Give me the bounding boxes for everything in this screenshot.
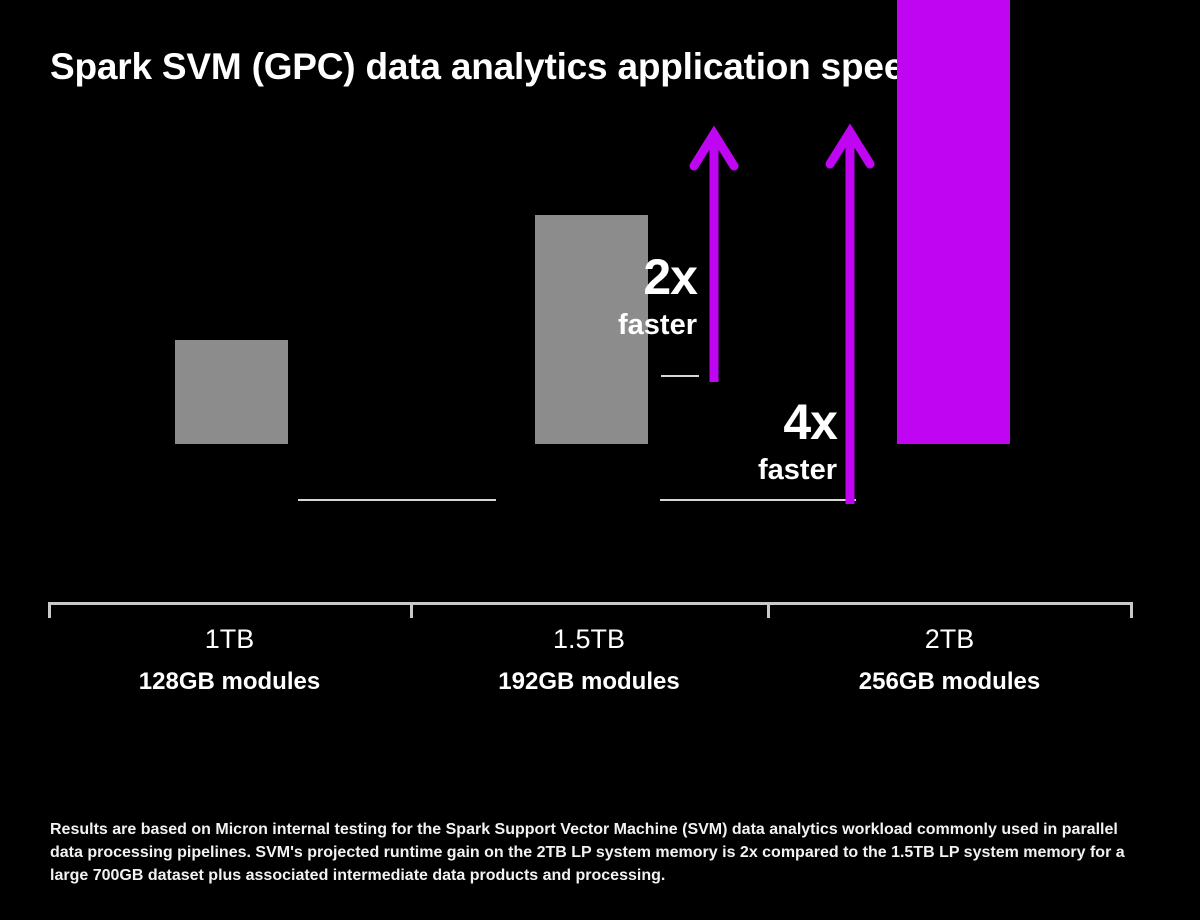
annotation-2x: 2x faster	[497, 250, 697, 342]
axis-tick-start	[48, 604, 51, 618]
category-group-2tb: 2TB 256GB modules	[768, 622, 1131, 698]
axis-tick-1	[410, 604, 413, 618]
annotation-4x: 4x faster	[637, 395, 837, 487]
slide-canvas: Spark SVM (GPC) data analytics applicati…	[0, 0, 1200, 920]
category-sublabel-2tb: 256GB modules	[768, 666, 1131, 698]
x-axis-line	[48, 602, 1133, 605]
annotation-4x-label: faster	[637, 453, 837, 487]
axis-tick-2	[767, 604, 770, 618]
category-group-1tb: 1TB 128GB modules	[49, 622, 410, 698]
category-label-2tb: 2TB	[768, 622, 1131, 656]
leader-line-1tb	[298, 499, 496, 501]
bar-2tb	[897, 0, 1010, 444]
category-sublabel-1-5tb: 192GB modules	[411, 666, 767, 698]
category-label-1-5tb: 1.5TB	[411, 622, 767, 656]
annotation-2x-label: faster	[497, 308, 697, 342]
bar-1tb	[175, 340, 288, 444]
category-sublabel-1tb: 128GB modules	[49, 666, 410, 698]
chart-plot-area: 2x faster 4x faster 1TB 128GB modules 1.…	[0, 0, 1200, 760]
axis-tick-end	[1130, 604, 1133, 618]
annotation-2x-value: 2x	[497, 250, 697, 304]
category-label-1tb: 1TB	[49, 622, 410, 656]
category-group-1-5tb: 1.5TB 192GB modules	[411, 622, 767, 698]
footnote-text: Results are based on Micron internal tes…	[50, 818, 1150, 887]
annotation-4x-value: 4x	[637, 395, 837, 449]
